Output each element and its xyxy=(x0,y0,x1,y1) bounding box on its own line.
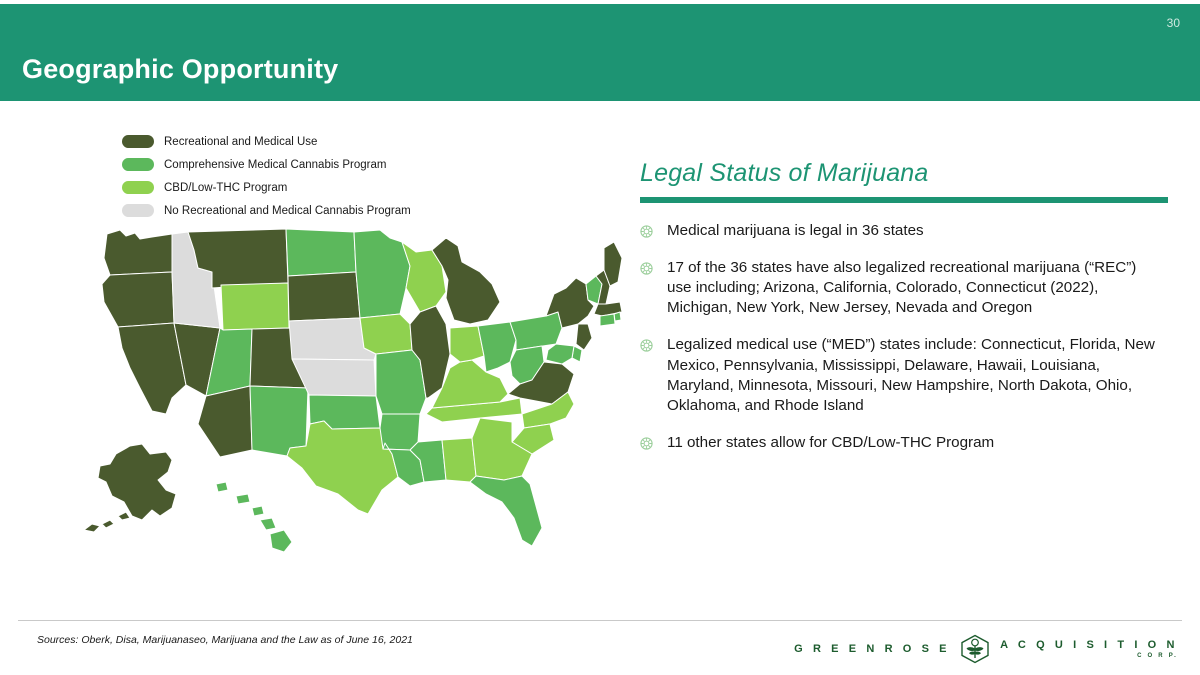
state-WY xyxy=(221,283,289,330)
state-AL xyxy=(442,438,476,482)
bullet-text: Legalized medical use (“MED”) states inc… xyxy=(667,335,1157,416)
flower-bullet-icon xyxy=(640,339,653,352)
logo-right-block: A C Q U I S I T I O N C O R P. xyxy=(1000,639,1178,659)
legend-swatch-rec-med xyxy=(122,135,154,148)
state-FL xyxy=(470,476,542,546)
state-PA xyxy=(510,312,562,350)
sources-note: Sources: Oberk, Disa, Marijuanaseo, Mari… xyxy=(37,634,413,646)
legend-item-none: No Recreational and Medical Cannabis Pro… xyxy=(122,200,411,221)
legend-item-comprehensive-med: Comprehensive Medical Cannabis Program xyxy=(122,154,411,175)
state-AZ xyxy=(198,386,252,457)
bullet-list: Medical marijuana is legal in 36 states … xyxy=(640,221,1170,454)
legend-swatch-cbd-low-thc xyxy=(122,181,154,194)
state-HI xyxy=(216,482,292,552)
state-NJ xyxy=(576,324,592,350)
state-IA xyxy=(360,314,412,354)
list-item: 11 other states allow for CBD/Low-THC Pr… xyxy=(640,433,1170,453)
logo-word-acquisition: A C Q U I S I T I O N xyxy=(1000,639,1178,651)
state-SD xyxy=(288,272,360,321)
legend-item-rec-med: Recreational and Medical Use xyxy=(122,131,411,152)
legal-status-panel: Legal Status of Marijuana Medical mariju… xyxy=(640,160,1170,470)
flower-bullet-icon xyxy=(640,225,653,238)
state-CA xyxy=(118,323,186,414)
panel-divider xyxy=(640,197,1168,203)
logo-word-corp: C O R P. xyxy=(1137,653,1178,659)
flower-bullet-icon xyxy=(640,437,653,450)
state-MN xyxy=(354,230,410,318)
company-logo: G R E E N R O S E A C Q U I S I T I O N … xyxy=(794,632,1178,666)
flower-bullet-icon xyxy=(640,262,653,275)
state-OR xyxy=(102,272,174,327)
us-choropleth-map xyxy=(80,228,625,573)
legend-swatch-comprehensive-med xyxy=(122,158,154,171)
state-MO xyxy=(376,350,426,414)
state-ND xyxy=(286,229,356,276)
page-title: Geographic Opportunity xyxy=(22,56,338,83)
state-MD xyxy=(546,344,574,364)
legend-label-cbd-low-thc: CBD/Low-THC Program xyxy=(164,182,287,194)
state-AK xyxy=(98,444,176,520)
list-item: Medical marijuana is legal in 36 states xyxy=(640,221,1170,241)
page-number: 30 xyxy=(1167,16,1180,30)
list-item: 17 of the 36 states have also legalized … xyxy=(640,258,1170,319)
list-item: Legalized medical use (“MED”) states inc… xyxy=(640,335,1170,416)
footer-divider xyxy=(18,620,1182,621)
legend-swatch-none xyxy=(122,204,154,217)
slide: Geographic Opportunity 30 Recreational a… xyxy=(0,0,1200,675)
bullet-text: Medical marijuana is legal in 36 states xyxy=(667,221,924,241)
alaska-aleutians xyxy=(84,512,130,532)
state-NM xyxy=(250,386,308,456)
cannabis-hexagon-icon xyxy=(959,634,991,664)
panel-title: Legal Status of Marijuana xyxy=(640,160,1170,188)
bullet-text: 11 other states allow for CBD/Low-THC Pr… xyxy=(667,433,994,453)
logo-word-greenrose: G R E E N R O S E xyxy=(794,643,950,655)
state-WA xyxy=(104,230,172,275)
legend-label-rec-med: Recreational and Medical Use xyxy=(164,136,317,148)
slide-header: Geographic Opportunity 30 xyxy=(0,4,1200,101)
state-CT xyxy=(600,314,615,326)
state-GA xyxy=(472,418,532,480)
legend-label-none: No Recreational and Medical Cannabis Pro… xyxy=(164,205,411,217)
map-legend: Recreational and Medical Use Comprehensi… xyxy=(122,131,411,223)
bullet-text: 17 of the 36 states have also legalized … xyxy=(667,258,1157,319)
legend-label-comprehensive-med: Comprehensive Medical Cannabis Program xyxy=(164,159,386,171)
legend-item-cbd-low-thc: CBD/Low-THC Program xyxy=(122,177,411,198)
